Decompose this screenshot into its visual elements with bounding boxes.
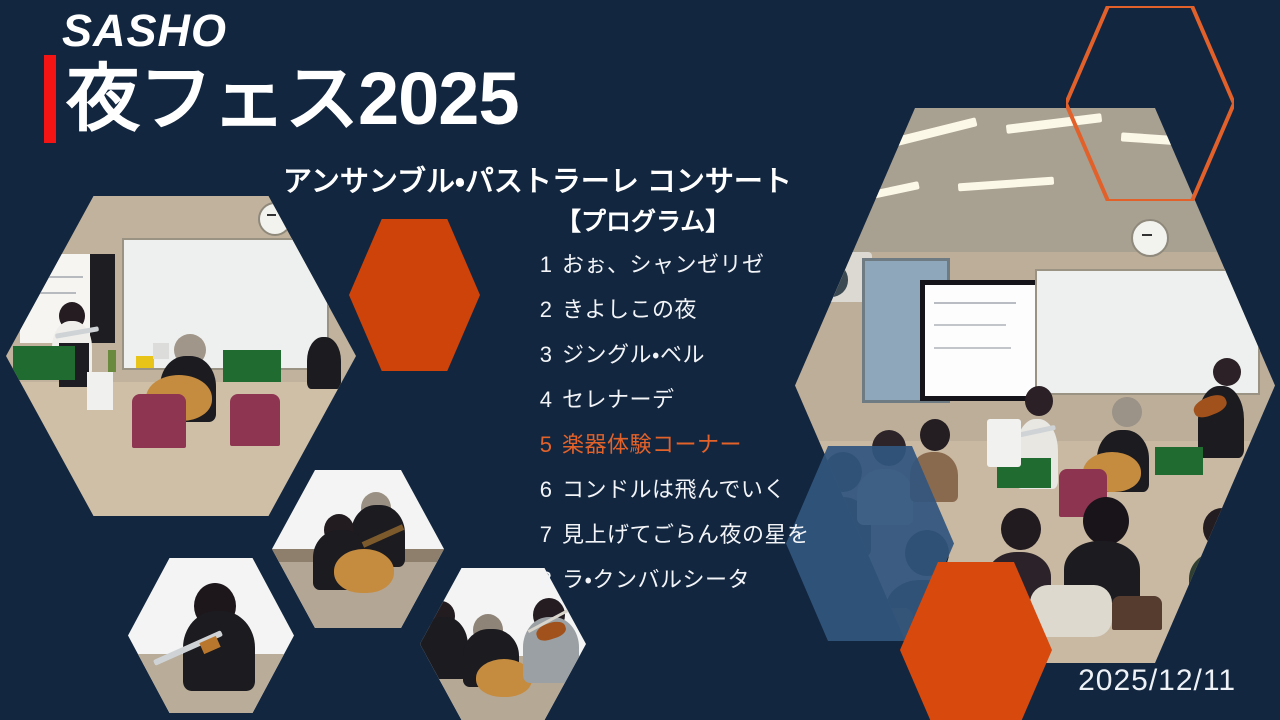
hexagon-outline — [1066, 6, 1234, 201]
page-subtitle: アンサンブル・パストラーレ コンサート — [283, 158, 792, 200]
program-title: おぉ、シャンゼリゼ — [562, 247, 765, 279]
title-accent-bar — [44, 55, 56, 143]
program-number: 7 — [528, 522, 552, 548]
program-item-4: 4 セレナーデ — [528, 382, 788, 414]
program-title: きよしこの夜 — [562, 292, 697, 324]
photo-guitar-lesson — [272, 470, 444, 628]
program-number: 5 — [528, 432, 552, 458]
program-number: 2 — [528, 297, 552, 323]
title-row: 夜フェス2025 — [44, 55, 519, 143]
program-block: 【プログラム】 1 おぉ、シャンゼリゼ 2 きよしこの夜 3 ジングル・ベル 4… — [528, 202, 788, 607]
slide-canvas: SASHO 夜フェス2025 アンサンブル・パストラーレ コンサート 【プログラ… — [0, 0, 1280, 720]
program-number: 4 — [528, 387, 552, 413]
program-number: 6 — [528, 477, 552, 503]
program-title: ラ・クンバルシータ — [562, 562, 750, 594]
program-heading: 【プログラム】 — [556, 202, 788, 238]
program-number: 3 — [528, 342, 552, 368]
program-item-3: 3 ジングル・ベル — [528, 337, 788, 369]
page-title: 夜フェス2025 — [66, 55, 519, 143]
program-item-6: 6 コンドルは飛んでいく — [528, 472, 788, 504]
hexagon-orange-upper — [349, 219, 480, 371]
program-item-7: 7 見上げてごらん夜の星を — [528, 517, 788, 549]
program-item-1: 1 おぉ、シャンゼリゼ — [528, 247, 788, 279]
program-item-8: 8 ラ・クンバルシータ — [528, 562, 788, 594]
program-title: 見上げてごらん夜の星を — [562, 517, 810, 549]
program-title: 楽器体験コーナー — [562, 427, 742, 459]
program-item-5-highlighted: 5 楽器体験コーナー — [528, 427, 788, 459]
photo-guitar-flute-duo — [6, 196, 356, 516]
photo-flute-solo — [128, 558, 294, 713]
program-number: 1 — [528, 252, 552, 278]
program-title: コンドルは飛んでいく — [562, 472, 786, 504]
program-number: 8 — [528, 567, 552, 593]
program-item-2: 2 きよしこの夜 — [528, 292, 788, 324]
program-title: ジングル・ベル — [562, 337, 705, 369]
event-date: 2025/12/11 — [1078, 664, 1236, 698]
logo-sasho: SASHO — [62, 8, 227, 53]
program-title: セレナーデ — [562, 382, 675, 414]
